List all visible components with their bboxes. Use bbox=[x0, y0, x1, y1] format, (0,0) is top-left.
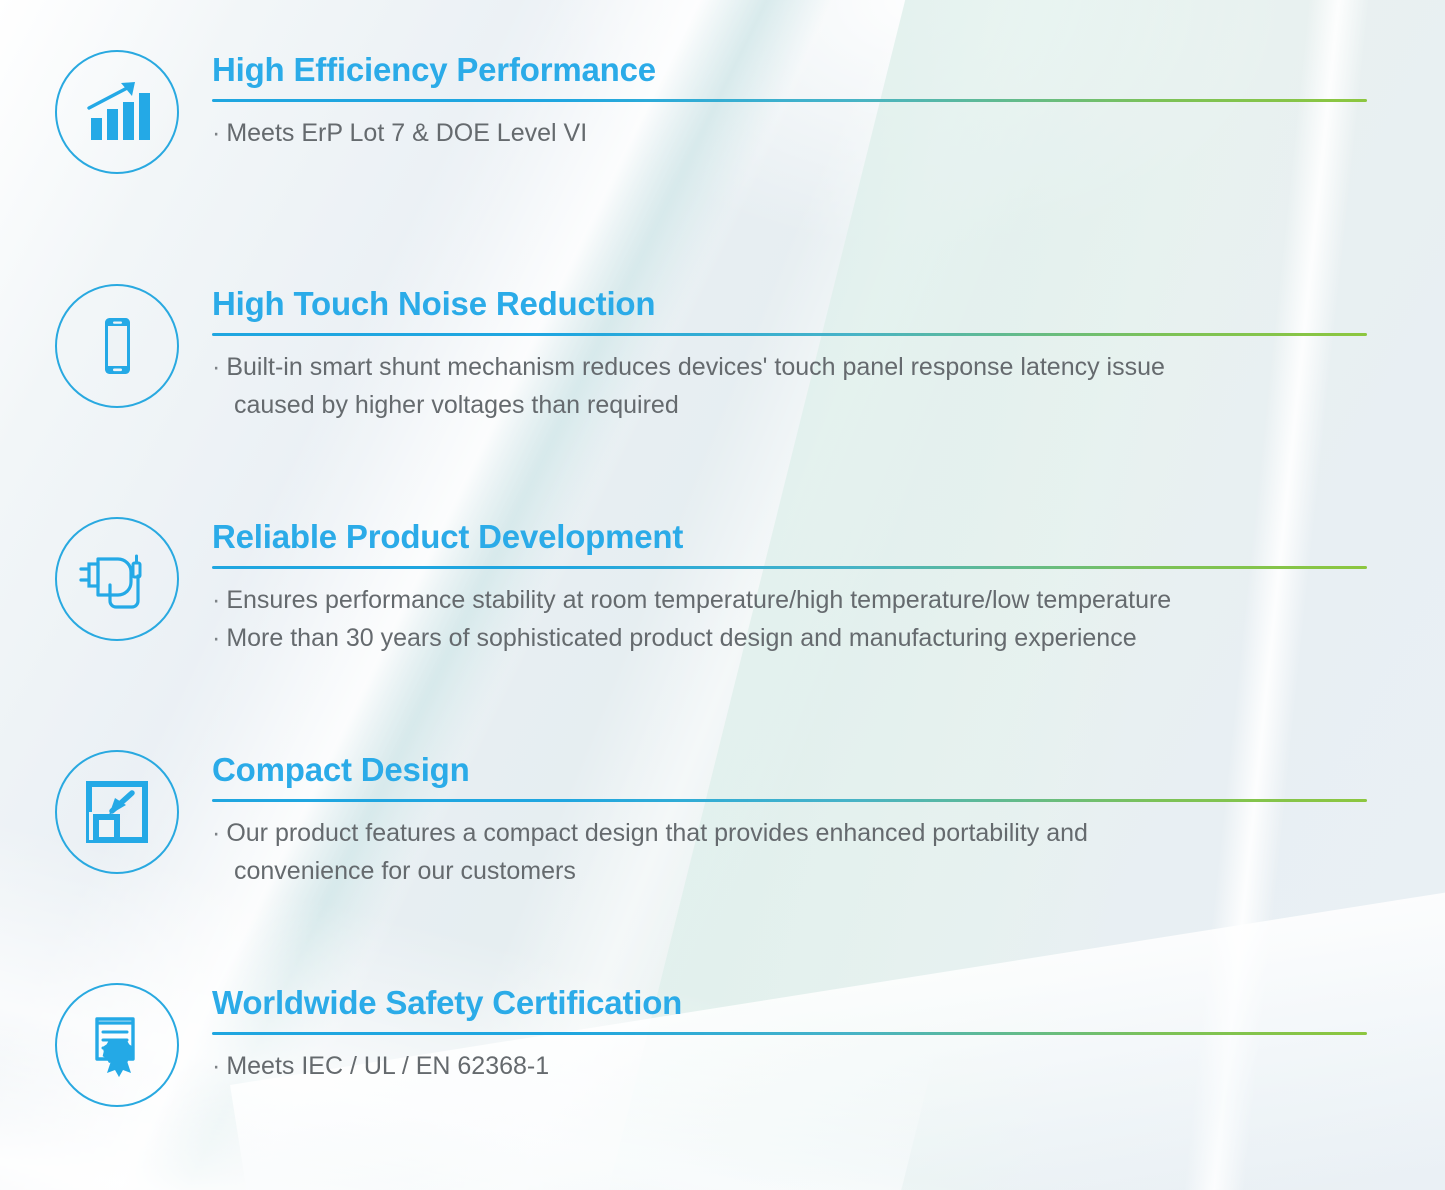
feature-title: High Efficiency Performance bbox=[212, 50, 1367, 90]
feature-bullet-line: ·Built-in smart shunt mechanism reduces … bbox=[212, 348, 1367, 386]
feature-bullet-text: Meets IEC / UL / EN 62368-1 bbox=[226, 1052, 549, 1080]
feature-title: Reliable Product Development bbox=[212, 517, 1367, 557]
feature-body: ·Ensures performance stability at room t… bbox=[212, 581, 1367, 657]
feature-bullet-line-continued: convenience for our customers bbox=[212, 852, 1367, 890]
feature-bullet-line: ·Our product features a compact design t… bbox=[212, 814, 1367, 852]
feature-divider bbox=[212, 333, 1367, 336]
feature-icon-wrapper bbox=[55, 750, 179, 874]
smartphone-icon bbox=[55, 284, 179, 408]
feature-divider bbox=[212, 99, 1367, 102]
feature-highlights-page: High Efficiency Performance ·Meets ErP L… bbox=[0, 0, 1445, 1190]
feature-bullet-line: ·Ensures performance stability at room t… bbox=[212, 581, 1367, 619]
power-adapter-icon bbox=[55, 517, 179, 641]
feature-divider bbox=[212, 1032, 1367, 1035]
bullet-glyph: · bbox=[212, 353, 220, 381]
feature-body: ·Built-in smart shunt mechanism reduces … bbox=[212, 348, 1367, 424]
bullet-glyph: · bbox=[212, 624, 220, 652]
feature-content: High Efficiency Performance ·Meets ErP L… bbox=[212, 50, 1367, 152]
feature-icon-wrapper bbox=[55, 983, 179, 1107]
feature-bullet-text: Ensures performance stability at room te… bbox=[226, 586, 1171, 614]
feature-body: ·Meets ErP Lot 7 & DOE Level VI bbox=[212, 114, 1367, 152]
feature-bullet-text: More than 30 years of sophisticated prod… bbox=[226, 624, 1136, 652]
feature-icon-wrapper bbox=[55, 517, 179, 641]
feature-icon-wrapper bbox=[55, 284, 179, 408]
feature-title: Compact Design bbox=[212, 750, 1367, 790]
feature-divider bbox=[212, 566, 1367, 569]
feature-title: High Touch Noise Reduction bbox=[212, 284, 1367, 324]
feature-bullet-line: ·Meets ErP Lot 7 & DOE Level VI bbox=[212, 114, 1367, 152]
feature-content: High Touch Noise Reduction ·Built-in sma… bbox=[212, 284, 1367, 424]
certificate-award-icon bbox=[55, 983, 179, 1107]
feature-bullet-line: ·Meets IEC / UL / EN 62368-1 bbox=[212, 1047, 1367, 1085]
feature-bullet-text: Meets ErP Lot 7 & DOE Level VI bbox=[226, 119, 587, 147]
feature-content: Worldwide Safety Certification ·Meets IE… bbox=[212, 983, 1367, 1085]
bullet-glyph: · bbox=[212, 819, 220, 847]
feature-title: Worldwide Safety Certification bbox=[212, 983, 1367, 1023]
feature-list: High Efficiency Performance ·Meets ErP L… bbox=[0, 0, 1445, 1190]
bullet-glyph: · bbox=[212, 586, 220, 614]
bullet-glyph: · bbox=[212, 119, 220, 147]
resize-shrink-icon bbox=[55, 750, 179, 874]
feature-bullet-text: Our product features a compact design th… bbox=[226, 819, 1088, 847]
feature-bullet-line-continued: caused by higher voltages than required bbox=[212, 386, 1367, 424]
feature-body: ·Meets IEC / UL / EN 62368-1 bbox=[212, 1047, 1367, 1085]
feature-content: Reliable Product Development ·Ensures pe… bbox=[212, 517, 1367, 657]
feature-divider bbox=[212, 799, 1367, 802]
bullet-glyph: · bbox=[212, 1052, 220, 1080]
feature-body: ·Our product features a compact design t… bbox=[212, 814, 1367, 890]
feature-icon-wrapper bbox=[55, 50, 179, 174]
feature-bullet-text: Built-in smart shunt mechanism reduces d… bbox=[226, 353, 1165, 381]
bar-chart-growth-icon bbox=[55, 50, 179, 174]
feature-bullet-line: ·More than 30 years of sophisticated pro… bbox=[212, 619, 1367, 657]
feature-content: Compact Design ·Our product features a c… bbox=[212, 750, 1367, 890]
